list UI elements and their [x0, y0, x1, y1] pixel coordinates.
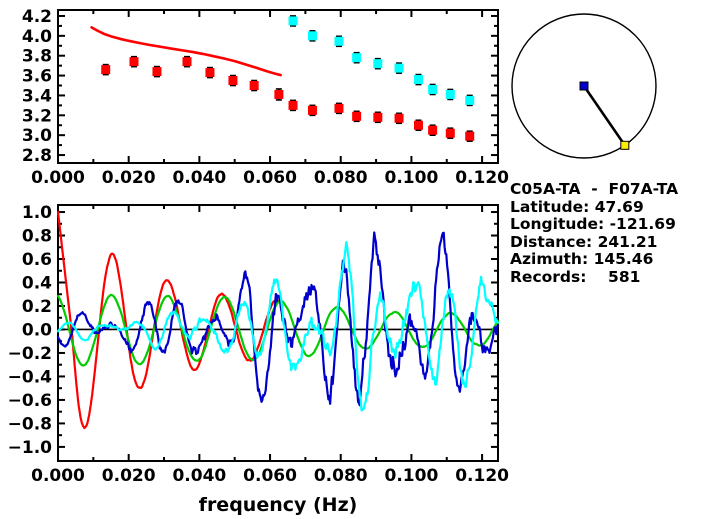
info-value-records: 581: [586, 268, 640, 286]
data-point-marker[interactable]: [395, 114, 404, 123]
x-tick-label: 0.120: [455, 168, 509, 188]
info-row-latitude: Latitude: 47.69: [510, 199, 702, 217]
info-value-latitude: 47.69: [589, 198, 643, 216]
station-pair-info: C05A-TA - F07A-TA Latitude: 47.69 Longit…: [510, 181, 702, 287]
y-tick-label: −0.6: [8, 391, 52, 411]
y-tick-label: 0.6: [22, 250, 52, 270]
y-tick-label: 4.2: [22, 7, 52, 27]
data-point-marker[interactable]: [446, 90, 455, 99]
y-tick-label: 0.4: [22, 274, 52, 294]
info-label-latitude: Latitude:: [510, 198, 589, 216]
x-tick-label: 0.000: [31, 168, 85, 188]
y-tick-label: 2.8: [22, 146, 52, 166]
info-label-azimuth: Azimuth:: [510, 250, 588, 268]
y-tick-label: 0.0: [22, 320, 52, 340]
data-point-marker[interactable]: [428, 85, 437, 94]
y-tick-label: 3.4: [22, 86, 52, 106]
y-tick-label: −0.8: [8, 414, 52, 434]
paired-station-dot[interactable]: [621, 141, 629, 149]
spectra-plot[interactable]: −1.0−0.8−0.6−0.4−0.20.00.20.40.60.81.00.…: [8, 203, 510, 516]
center-station-dot[interactable]: [580, 82, 588, 90]
data-point-marker[interactable]: [373, 59, 382, 68]
data-point-marker[interactable]: [446, 129, 455, 138]
x-tick-label: 0.060: [243, 168, 297, 188]
data-point-marker[interactable]: [414, 121, 423, 130]
info-label-records: Records:: [510, 268, 586, 286]
y-tick-label: 3.8: [22, 47, 52, 67]
data-point-marker[interactable]: [428, 126, 437, 135]
data-point-marker[interactable]: [352, 53, 361, 62]
y-tick-label: −0.4: [8, 367, 53, 387]
azimuth-diagram: [512, 14, 656, 158]
azimuth-ray: [584, 86, 625, 145]
y-tick-label: 0.2: [22, 297, 52, 317]
info-title: C05A-TA - F07A-TA: [510, 181, 702, 199]
info-value-azimuth: 145.46: [588, 250, 653, 268]
y-tick-label: 3.0: [22, 126, 52, 146]
x-tick-label: 0.020: [102, 466, 156, 486]
y-tick-label: 1.0: [22, 203, 52, 223]
y-tick-label: 0.8: [22, 227, 52, 247]
info-label-longitude: Longitude:: [510, 215, 604, 233]
data-point-marker[interactable]: [182, 57, 191, 66]
data-point-marker[interactable]: [101, 65, 110, 74]
data-point-marker[interactable]: [465, 96, 474, 105]
data-point-marker[interactable]: [465, 132, 474, 141]
data-point-marker[interactable]: [334, 104, 343, 113]
x-tick-label: 0.020: [102, 168, 156, 188]
x-tick-label: 0.000: [31, 466, 85, 486]
x-tick-label: 0.100: [385, 466, 439, 486]
x-tick-label: 0.080: [314, 466, 368, 486]
info-row-azimuth: Azimuth: 145.46: [510, 251, 702, 269]
x-tick-label: 0.120: [455, 466, 509, 486]
data-point-marker[interactable]: [308, 31, 317, 40]
data-point-marker[interactable]: [205, 68, 214, 77]
info-value-longitude: -121.69: [604, 215, 676, 233]
y-tick-label: 4.0: [22, 27, 52, 47]
y-tick-label: −1.0: [8, 438, 53, 458]
x-tick-label: 0.080: [314, 168, 368, 188]
info-label-distance: Distance:: [510, 233, 592, 251]
y-tick-label: 3.6: [22, 67, 52, 87]
x-tick-label: 0.100: [385, 168, 439, 188]
data-point-marker[interactable]: [289, 101, 298, 110]
info-row-distance: Distance: 241.21: [510, 234, 702, 252]
info-row-records: Records: 581: [510, 269, 702, 287]
data-point-marker[interactable]: [250, 81, 259, 90]
data-point-marker[interactable]: [308, 106, 317, 115]
data-point-marker[interactable]: [334, 37, 343, 46]
info-value-distance: 241.21: [592, 233, 657, 251]
x-tick-label: 0.040: [172, 466, 226, 486]
data-point-marker[interactable]: [352, 112, 361, 121]
data-point-marker[interactable]: [373, 113, 382, 122]
x-tick-label: 0.040: [172, 168, 226, 188]
x-axis-title: frequency (Hz): [199, 494, 358, 516]
figure-root: 2.83.03.23.43.63.84.04.20.0000.0200.0400…: [0, 0, 702, 519]
data-point-marker[interactable]: [274, 90, 283, 99]
data-point-marker[interactable]: [228, 76, 237, 85]
info-row-longitude: Longitude: -121.69: [510, 216, 702, 234]
data-point-marker[interactable]: [129, 57, 138, 66]
data-point-marker[interactable]: [414, 75, 423, 84]
data-point-marker[interactable]: [289, 16, 298, 25]
y-tick-label: 3.2: [22, 106, 52, 126]
y-tick-label: −0.2: [8, 344, 52, 364]
dispersion-plot[interactable]: 2.83.03.23.43.63.84.04.20.0000.0200.0400…: [22, 7, 509, 188]
x-tick-label: 0.060: [243, 466, 297, 486]
data-point-marker[interactable]: [152, 67, 161, 76]
data-point-marker[interactable]: [395, 64, 404, 73]
